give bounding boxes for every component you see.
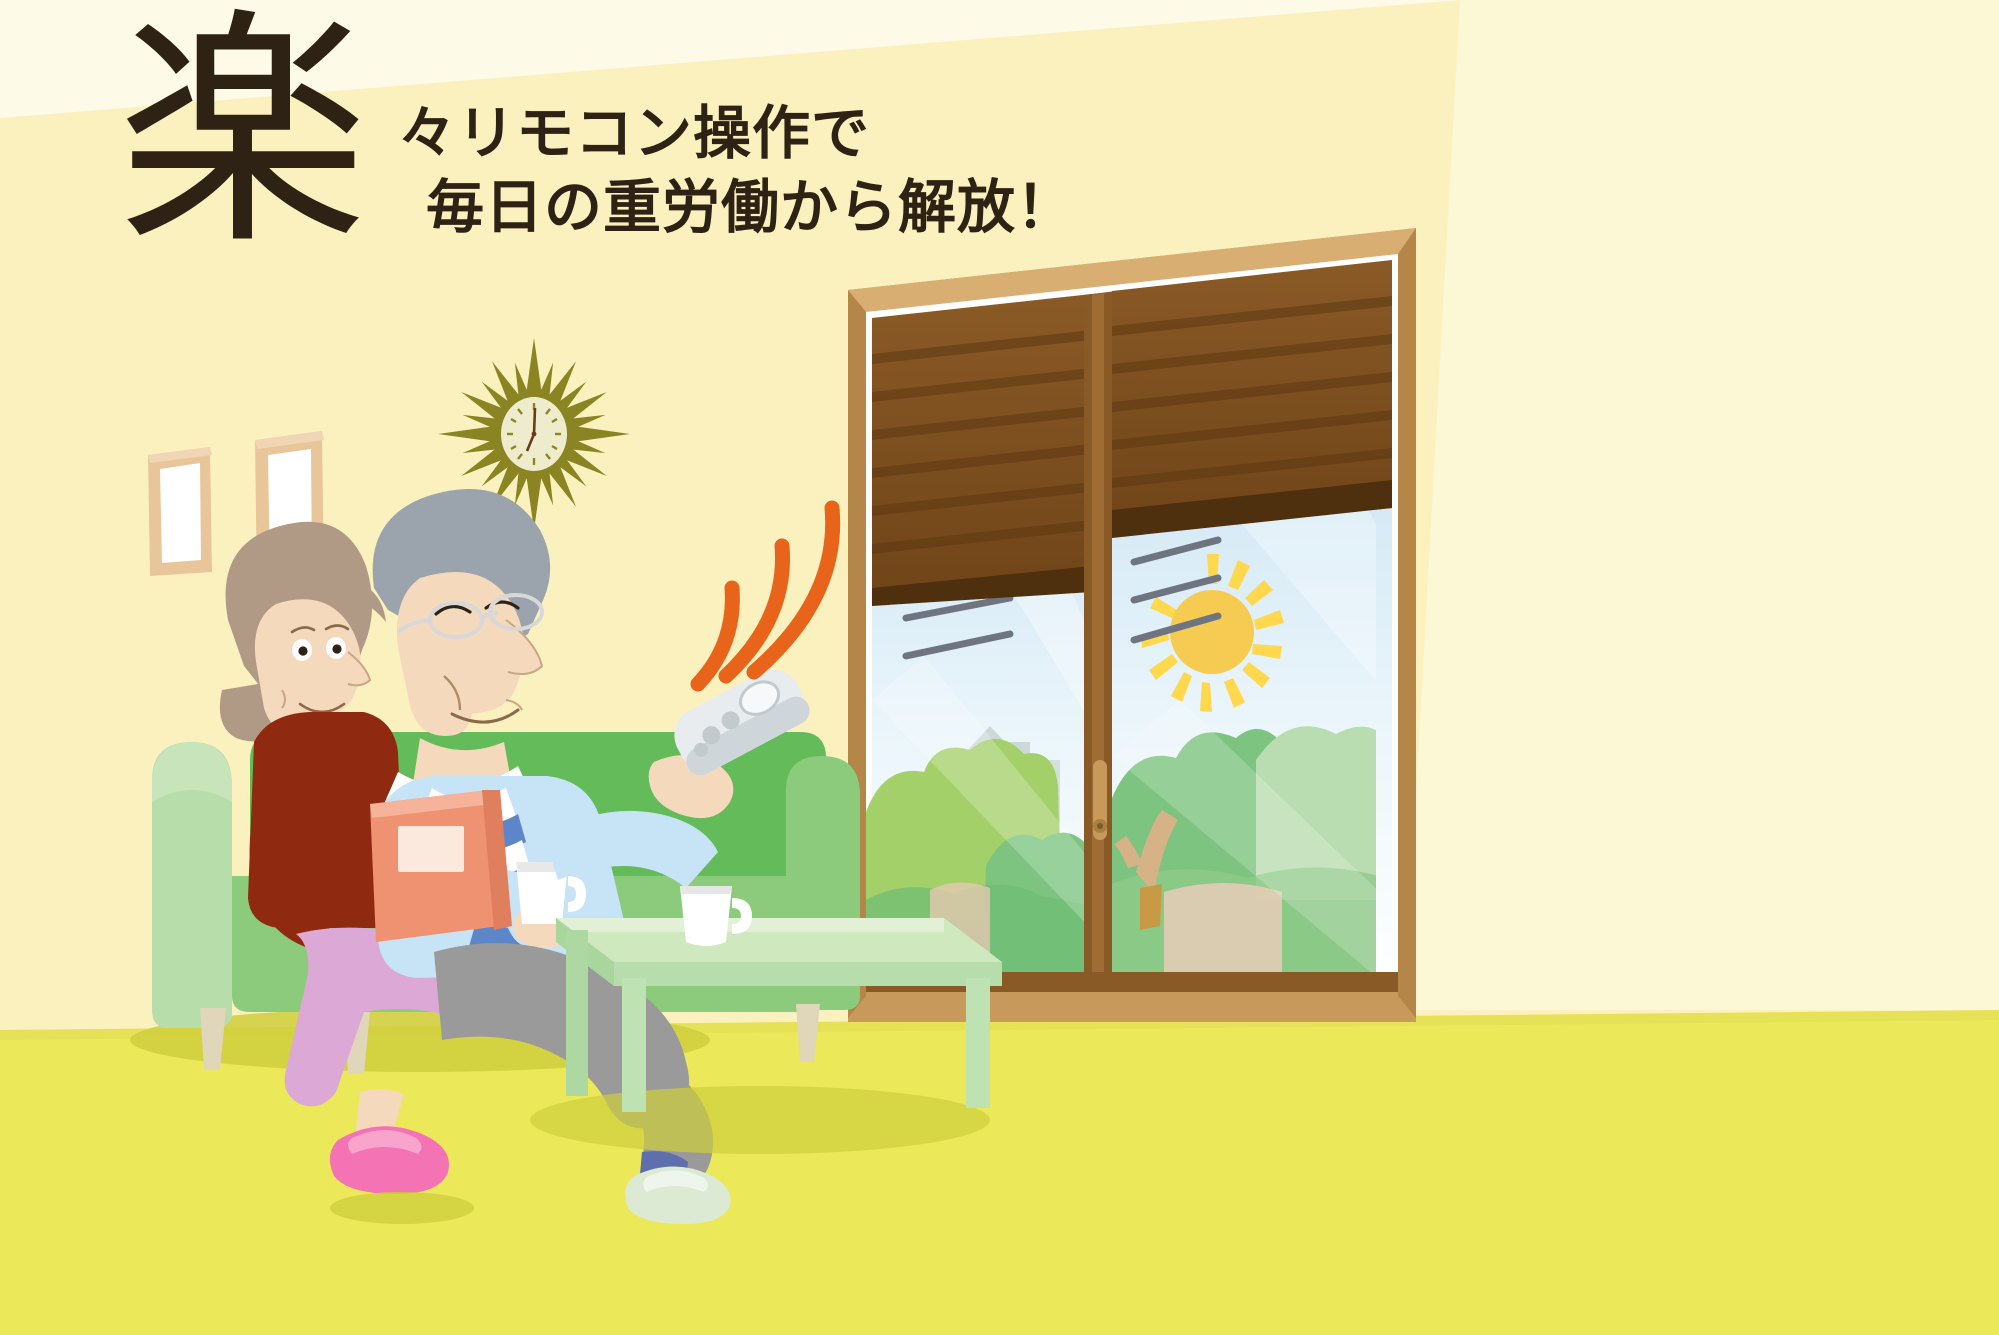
book-label <box>398 826 464 872</box>
woman-slipper-shadow <box>330 1192 474 1224</box>
woman-pupil-right <box>332 644 341 653</box>
window-jamb-right <box>1398 228 1416 1018</box>
woman-pupil-left <box>298 646 307 655</box>
table-leg-front-left <box>622 978 646 1112</box>
poster-illustration: 楽 々リモコン操作で 毎日の重労働から解放！ <box>0 0 1999 1335</box>
clock-minute-hand <box>534 408 535 434</box>
table-leg-front-right <box>966 978 990 1108</box>
table-leg-back-left <box>566 930 588 1096</box>
scene-canvas <box>0 0 1999 1335</box>
book <box>370 790 512 942</box>
window-pane-right[interactable] <box>1112 260 1392 990</box>
window-centre-mullion <box>1084 291 1116 996</box>
picture-frame-left <box>148 447 212 576</box>
table-apron <box>614 962 1002 986</box>
sliding-glass-door[interactable] <box>848 228 1416 1022</box>
sun-disc <box>1170 590 1254 674</box>
rolling-shutter-right[interactable] <box>1112 260 1392 538</box>
clock-center-pin <box>532 432 537 437</box>
wall-right-panel <box>1404 0 1999 1010</box>
table-shadow <box>530 1086 990 1154</box>
window-pane-left[interactable] <box>866 294 1092 1016</box>
rolling-shutter-left[interactable] <box>872 294 1092 606</box>
window-latch-handle[interactable] <box>1093 760 1107 840</box>
